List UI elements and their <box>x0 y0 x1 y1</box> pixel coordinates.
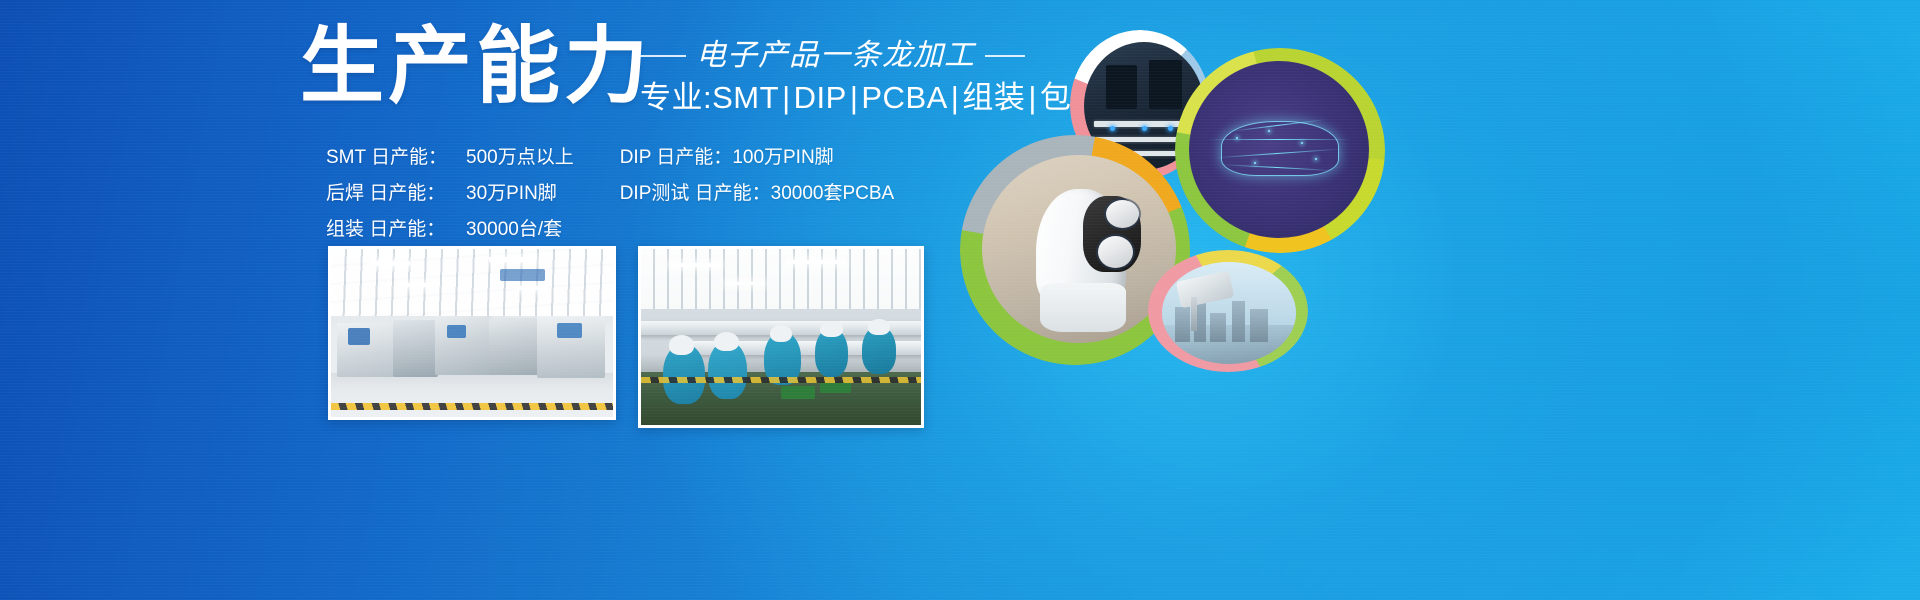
ceiling-light <box>787 260 845 264</box>
headline-group: 生产能力 <box>300 18 652 114</box>
machine-panel <box>447 325 467 338</box>
hanging-sign <box>500 269 545 281</box>
capacity-spec-list: SMT 日产能： 500万点以上 后焊 日产能： 30万PIN脚 组装 日产能：… <box>326 146 894 242</box>
ceiling-light <box>370 261 410 266</box>
ceiling-light <box>399 283 433 287</box>
badge-city-camera <box>1148 250 1308 372</box>
ceiling-light <box>669 263 721 267</box>
spec-row: DIP 日产能： 100万PIN脚 <box>620 146 895 170</box>
product-circle-cluster <box>950 10 1410 370</box>
photo-assembly-production-line <box>638 246 924 428</box>
spec-row: DIP测试 日产能： 30000套PCBA <box>620 182 895 206</box>
worker-cap <box>669 335 694 354</box>
spec-column-left: SMT 日产能： 500万点以上 后焊 日产能： 30万PIN脚 组装 日产能：… <box>326 146 574 242</box>
status-led <box>1142 126 1147 131</box>
building <box>1232 301 1245 342</box>
badge-image-city-camera <box>1162 262 1296 364</box>
separator-1: | <box>779 80 794 115</box>
smt-machine <box>393 320 438 377</box>
worker-cap <box>714 332 739 351</box>
smt-machine <box>489 318 540 375</box>
badge-image-appliance <box>982 155 1176 343</box>
dash-left-icon <box>640 55 686 57</box>
ceiling-light <box>517 286 547 290</box>
spec-value-smt: 500万点以上 <box>466 146 574 170</box>
building <box>1250 309 1267 342</box>
building <box>1175 307 1190 342</box>
worker-cap <box>868 319 890 335</box>
safety-floor-stripe <box>331 403 613 410</box>
photo-smt-production-line <box>328 246 616 420</box>
air-fryer-dial <box>1098 236 1133 268</box>
building <box>1210 313 1226 342</box>
assembly-room-scene <box>641 249 921 425</box>
safety-floor-stripe <box>641 377 921 383</box>
machine-panel <box>557 323 582 338</box>
badge-auto-tech <box>1175 48 1385 253</box>
service-item-pcba: PCBA <box>861 80 947 115</box>
spec-value-dip-test: 30000套PCBA <box>771 182 895 206</box>
worker-cap <box>770 325 792 343</box>
spec-label-assembly: 组装 日产能： <box>326 218 458 242</box>
ceiling-light <box>725 282 765 285</box>
component-tray <box>781 386 815 398</box>
subtitle-prefix: 专业: <box>640 80 712 115</box>
floor <box>331 373 613 417</box>
worker-cap <box>820 321 842 337</box>
status-led <box>1168 126 1173 131</box>
spec-value-dip: 100万PIN脚 <box>732 146 833 170</box>
service-item-dip: DIP <box>794 80 847 115</box>
spec-label-dip: DIP 日产能： <box>620 146 733 170</box>
spec-value-post-solder: 30万PIN脚 <box>466 182 557 206</box>
subtitle-line-1-text: 电子产品一条龙加工 <box>696 36 975 76</box>
spec-row: 组装 日产能： 30000台/套 <box>326 218 574 242</box>
ceiling-grid <box>331 249 613 316</box>
spec-value-assembly: 30000台/套 <box>466 218 562 242</box>
spec-label-smt: SMT 日产能： <box>326 146 458 170</box>
air-fryer-basket <box>1040 283 1125 332</box>
production-capacity-banner: 生产能力 电子产品一条龙加工 专业:SMT|DIP|PCBA|组装|包装 SMT… <box>0 0 1920 600</box>
separator-2: | <box>847 80 862 115</box>
machine-head <box>1106 65 1137 109</box>
ceiling-light <box>489 257 535 262</box>
service-item-smt: SMT <box>712 80 779 115</box>
ceiling-grid <box>641 249 921 309</box>
machine-head <box>1149 60 1183 109</box>
spec-column-right: DIP 日产能： 100万PIN脚 DIP测试 日产能： 30000套PCBA <box>620 146 895 242</box>
status-led <box>1110 126 1115 131</box>
car-silhouette <box>1221 121 1338 176</box>
spec-row: SMT 日产能： 500万点以上 <box>326 146 574 170</box>
page-title: 生产能力 <box>300 18 652 114</box>
machine-panel <box>348 328 371 345</box>
spec-label-dip-test: DIP测试 日产能： <box>620 182 771 206</box>
spec-row: 后焊 日产能： 30万PIN脚 <box>326 182 574 206</box>
security-camera-mount <box>1191 297 1197 332</box>
badge-image-auto-tech <box>1189 61 1369 238</box>
spec-label-post-solder: 后焊 日产能： <box>326 182 458 206</box>
component-tray <box>820 383 851 394</box>
smt-room-scene <box>331 249 613 417</box>
